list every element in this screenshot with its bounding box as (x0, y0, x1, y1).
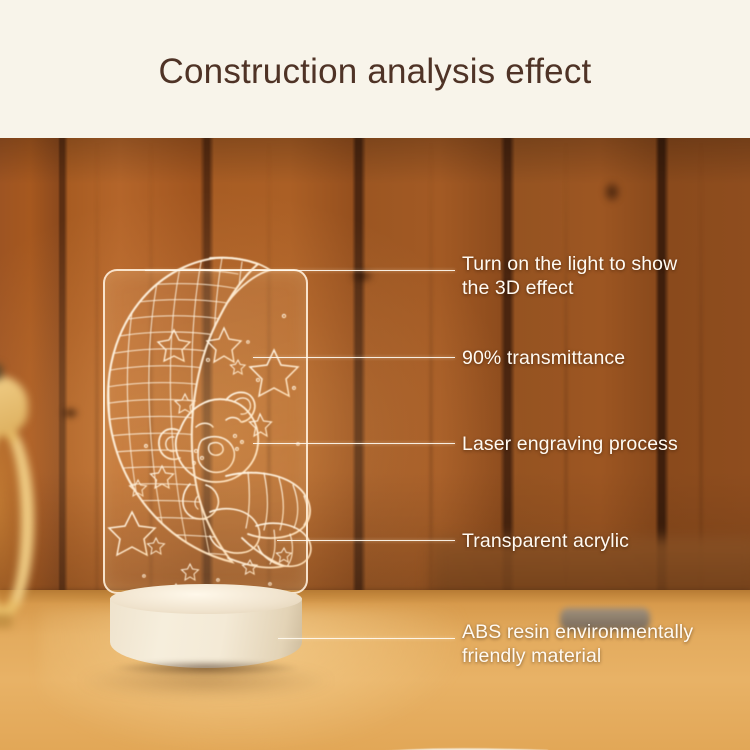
base-top-rim (110, 584, 302, 614)
wood-knot (602, 180, 622, 204)
leader-line-laser-engraving (253, 443, 455, 444)
ornament-ring (0, 422, 34, 620)
ornament-foot (0, 614, 12, 628)
usb-cable (310, 746, 550, 750)
callout-acrylic: Transparent acrylic (462, 529, 746, 553)
leader-line-abs-resin (278, 638, 455, 639)
product-infographic: Construction analysis effect (0, 0, 750, 750)
leader-line-transmittance (253, 357, 455, 358)
decorative-ornament (0, 368, 44, 630)
page-title: Construction analysis effect (159, 52, 592, 92)
laser-engraving-artwork (98, 244, 328, 594)
leader-line-3d-effect (145, 270, 455, 271)
base-contact-shadow (114, 660, 298, 676)
night-light-lamp (98, 244, 328, 594)
callout-transmittance: 90% transmittance (462, 346, 746, 370)
callout-laser-engraving: Laser engraving process (462, 432, 746, 456)
leader-line-acrylic (277, 540, 455, 541)
callout-abs-resin: ABS resin environmentally friendly mater… (462, 620, 750, 668)
wood-knot (60, 406, 80, 420)
header-band: Construction analysis effect (0, 0, 750, 138)
ornament-top (0, 376, 28, 434)
callout-3d-effect: Turn on the light to show the 3D effect (462, 252, 746, 300)
lamp-base (110, 584, 302, 676)
